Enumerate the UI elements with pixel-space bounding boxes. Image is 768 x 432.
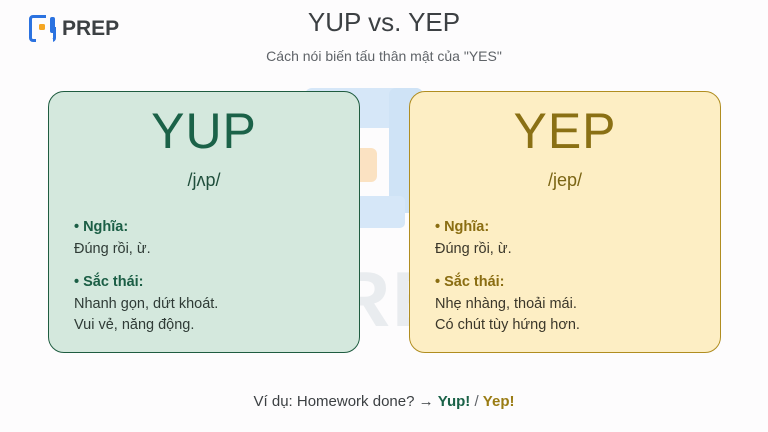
card-yep-field-nuance-line-2: Có chút tùy hứng hơn. [435,315,706,336]
arrow-icon: → [419,393,434,410]
example-yep: Yep! [483,393,515,410]
card-yup-body: •Nghĩa: Đúng rồi, ừ. •Sắc thái: Nhanh gọ… [49,217,359,336]
card-yep-field-nuance-label-text: Sắc thái: [444,274,504,290]
example-prefix: Ví dụ: Homework done? [254,393,415,410]
prep-logo-dot [39,24,45,30]
card-yup-field-meaning-label: •Nghĩa: [74,217,345,239]
prep-logo-bottom-gap [36,39,53,43]
example-separator: / [474,393,478,410]
bullet-icon: • [435,274,440,290]
card-yep-word: YEP [410,106,720,156]
card-yup-field-meaning-line-1: Đúng rồi, ừ. [74,239,345,260]
card-yup: YUP /jʌp/ •Nghĩa: Đúng rồi, ừ. •Sắc thái… [48,91,360,353]
card-yep: YEP /jep/ •Nghĩa: Đúng rồi, ừ. •Sắc thái… [409,91,721,353]
card-yup-pronunciation: /jʌp/ [49,170,359,191]
bullet-icon: • [74,219,79,235]
card-yep-field-meaning-label: •Nghĩa: [435,217,706,239]
example-yup: Yup! [438,393,471,410]
card-yup-field-nuance: •Sắc thái: Nhanh gọn, dứt khoát. Vui vẻ,… [74,272,345,336]
card-yup-field-nuance-line-2: Vui vẻ, năng động. [74,315,345,336]
bullet-icon: • [435,219,440,235]
card-yep-field-meaning-line-1: Đúng rồi, ừ. [435,239,706,260]
card-yep-field-meaning: •Nghĩa: Đúng rồi, ừ. [435,217,706,260]
card-yep-pronunciation: /jep/ [410,170,720,191]
card-yup-field-nuance-label: •Sắc thái: [74,272,345,294]
card-yep-body: •Nghĩa: Đúng rồi, ừ. •Sắc thái: Nhẹ nhàn… [410,217,720,336]
card-yup-field-nuance-label-text: Sắc thái: [83,274,143,290]
prep-logo-icon [29,15,56,42]
brand-logo-text: PREP [62,17,119,41]
page-subtitle: Cách nói biến tấu thân mật của "YES" [0,48,768,64]
card-yep-field-nuance-label: •Sắc thái: [435,272,706,294]
card-yup-field-meaning-label-text: Nghĩa: [83,219,128,235]
bullet-icon: • [74,274,79,290]
card-yup-word: YUP [49,106,359,156]
prep-logo-right-bar [50,17,55,33]
brand-logo[interactable]: PREP [29,15,119,42]
card-yup-field-meaning: •Nghĩa: Đúng rồi, ừ. [74,217,345,260]
card-yup-field-nuance-line-1: Nhanh gọn, dứt khoát. [74,294,345,315]
card-yep-field-nuance-line-1: Nhẹ nhàng, thoải mái. [435,294,706,315]
card-yep-field-nuance: •Sắc thái: Nhẹ nhàng, thoải mái. Có chút… [435,272,706,336]
card-yep-field-meaning-label-text: Nghĩa: [444,219,489,235]
example-footer: Ví dụ: Homework done? → Yup! / Yep! [0,393,768,410]
